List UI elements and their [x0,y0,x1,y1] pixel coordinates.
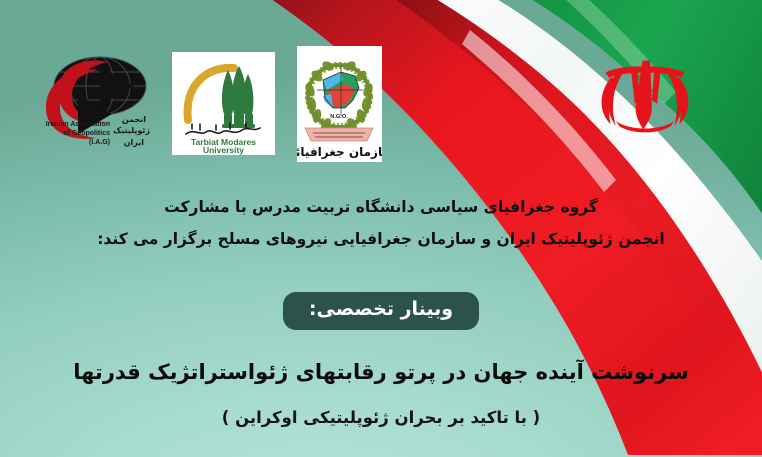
host-line-1: گروه جغرافیای سیاسی دانشگاه تربیت مدرس ب… [0,200,762,216]
logo-tmu-caption-line2: University [203,145,244,155]
logo-row: N.G.O. سازمان جغرافیائی [0,46,762,176]
webinar-type-badge: وبینار تخصصی: [283,292,479,330]
logo-iag-caption-fa-line2: ژئوپلیتیک [113,126,150,135]
logo-ngo-geographic-organization: N.G.O. سازمان جغرافیائی [297,46,382,162]
host-block: گروه جغرافیای سیاسی دانشگاه تربیت مدرس ب… [0,200,762,247]
logo-iag-caption-fa-line3: ایران [124,138,145,147]
logo-iag-caption-line1: Iranian Association [46,121,110,128]
webinar-poster: N.G.O. سازمان جغرافیائی [0,0,762,457]
logo-tarbiat-modares-university: Tarbiat Modares University [172,52,275,155]
logo-iag-caption-fa-line1: انجمن [122,115,146,124]
logo-ngo-caption: سازمان جغرافیائی [297,145,382,159]
webinar-banner-wrap: وبینار تخصصی: [0,292,762,330]
webinar-subtitle: ( با تاکید بر بحران ژئوپلیتیکی اوکراین ) [0,409,762,428]
webinar-title: سرنوشت آینده جهان در پرتو رقابتهای ژئواس… [0,360,762,384]
logo-iag-caption-line2: of Geopolitics [63,130,110,137]
logo-iranian-association-of-geopolitics: Iranian Association of Geopolitics (I.A.… [38,52,150,152]
logo-iag-caption-line3: (I.A.G) [89,139,110,146]
logo-ngo-abbrev: N.G.O. [330,114,348,120]
host-line-2: انجمن ژئوپلیتیک ایران و سازمان جغرافیایی… [0,232,762,248]
